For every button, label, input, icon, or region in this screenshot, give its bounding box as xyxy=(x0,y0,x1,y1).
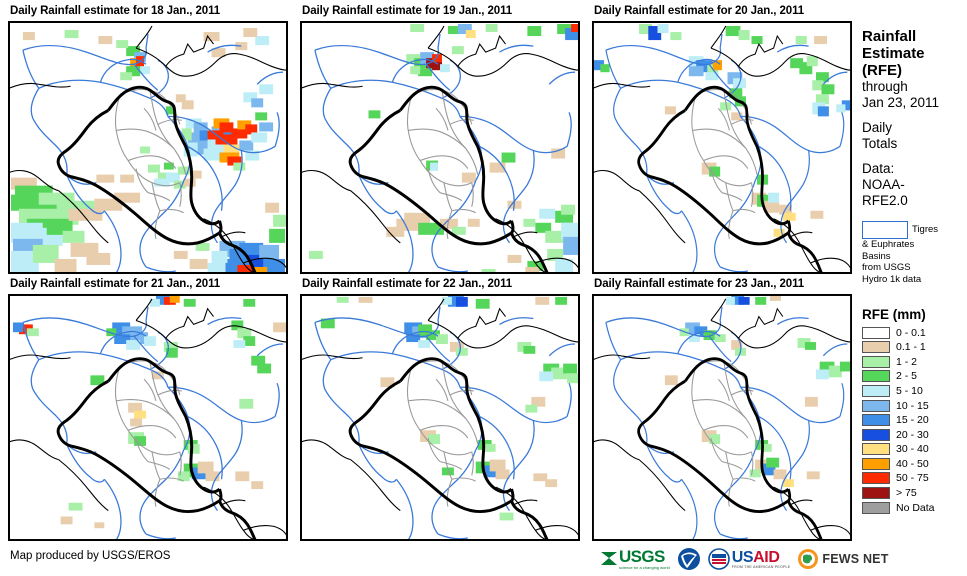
legend-label: > 75 xyxy=(890,487,917,499)
legend-label: 30 - 40 xyxy=(890,443,929,455)
panel-21jan[interactable]: Daily Rainfall estimate for 21 Jan., 201… xyxy=(8,277,288,539)
legend-row: 50 - 75 xyxy=(862,471,967,486)
basin-legend-key: Tigres & Euphrates Basins from USGS Hydr… xyxy=(862,221,967,285)
map-frame-23jan[interactable] xyxy=(592,294,852,541)
legend-label: 2 - 5 xyxy=(890,370,917,382)
basin-label-line5: Hydro 1k data xyxy=(862,274,967,286)
legend-label: 10 - 15 xyxy=(890,400,929,412)
sidebar-title-line2: Estimate xyxy=(862,45,967,62)
basin-label-line2: & Euphrates xyxy=(862,239,967,251)
legend-row: 0.1 - 1 xyxy=(862,340,967,355)
sidebar-through-date: Jan 23, 2011 xyxy=(862,95,967,111)
legend-label: 1 - 2 xyxy=(890,356,917,368)
fewsnet-logo[interactable]: FEWS NET xyxy=(797,548,888,570)
sidebar-through-label: through xyxy=(862,79,967,95)
legend-row: 15 - 20 xyxy=(862,413,967,428)
fewsnet-wordmark: FEWS NET xyxy=(822,552,888,566)
legend-swatch xyxy=(862,458,890,470)
panel-title-21jan: Daily Rainfall estimate for 21 Jan., 201… xyxy=(8,277,288,292)
legend-row: 1 - 2 xyxy=(862,354,967,369)
noaa-seal-icon xyxy=(677,547,701,571)
sidebar-totals-line1: Daily xyxy=(862,120,967,136)
usgs-mark-icon xyxy=(600,549,618,569)
sidebar-totals-line2: Totals xyxy=(862,136,967,152)
panel-19jan[interactable]: Daily Rainfall estimate for 19 Jan., 201… xyxy=(300,4,580,272)
panel-20jan[interactable]: Daily Rainfall estimate for 20 Jan., 201… xyxy=(592,4,852,272)
map-frame-20jan[interactable] xyxy=(592,21,852,274)
map-frame-19jan[interactable] xyxy=(300,21,580,274)
legend-swatch xyxy=(862,443,890,455)
rfe-legend-heading: RFE (mm) xyxy=(862,307,967,322)
map-21jan xyxy=(9,295,287,540)
panel-22jan[interactable]: Daily Rainfall estimate for 22 Jan., 201… xyxy=(300,277,580,539)
map-23jan xyxy=(593,295,851,540)
page-footer: Map produced by USGS/EROS USGS science f… xyxy=(0,540,967,576)
sidebar-title-line3: (RFE) xyxy=(862,62,967,79)
basin-label-line1: Tigres xyxy=(908,224,938,236)
map-panel-grid: Daily Rainfall estimate for 18 Jan., 201… xyxy=(0,0,856,540)
legend-label: 20 - 30 xyxy=(890,429,929,441)
rfe-legend-list: 0 - 0.10.1 - 11 - 22 - 55 - 1010 - 1515 … xyxy=(862,325,967,515)
map-22jan xyxy=(301,295,579,540)
legend-swatch xyxy=(862,502,890,514)
legend-swatch xyxy=(862,414,890,426)
legend-label: 15 - 20 xyxy=(890,414,929,426)
panel-23jan[interactable]: Daily Rainfall estimate for 23 Jan., 201… xyxy=(592,277,852,539)
basin-label-line4: from USGS xyxy=(862,262,967,274)
map-frame-22jan[interactable] xyxy=(300,294,580,541)
panel-title-18jan: Daily Rainfall estimate for 18 Jan., 201… xyxy=(8,4,288,19)
legend-swatch xyxy=(862,487,890,499)
panel-title-23jan: Daily Rainfall estimate for 23 Jan., 201… xyxy=(592,277,852,292)
noaa-logo[interactable] xyxy=(677,547,701,571)
legend-swatch xyxy=(862,356,890,368)
legend-swatch xyxy=(862,370,890,382)
legend-row: 10 - 15 xyxy=(862,398,967,413)
map-19jan xyxy=(301,22,579,273)
map-20jan xyxy=(593,22,851,273)
map-18jan xyxy=(9,22,287,273)
legend-row: 30 - 40 xyxy=(862,442,967,457)
sidebar-data-line1: Data: xyxy=(862,161,967,177)
legend-swatch xyxy=(862,341,890,353)
fewsnet-globe-icon xyxy=(797,548,819,570)
map-credit: Map produced by USGS/EROS xyxy=(10,550,170,562)
legend-label: 40 - 50 xyxy=(890,458,929,470)
usaid-tagline: FROM THE AMERICAN PEOPLE xyxy=(732,565,791,569)
legend-row: 40 - 50 xyxy=(862,457,967,472)
basin-label-line3: Basins xyxy=(862,251,967,263)
usaid-logo[interactable]: USAID FROM THE AMERICAN PEOPLE xyxy=(708,548,791,570)
legend-sidebar: Rainfall Estimate (RFE) through Jan 23, … xyxy=(862,0,967,540)
panel-18jan[interactable]: Daily Rainfall estimate for 18 Jan., 201… xyxy=(8,4,288,272)
legend-row: 20 - 30 xyxy=(862,427,967,442)
sidebar-data-line2: NOAA- xyxy=(862,177,967,193)
legend-row: 2 - 5 xyxy=(862,369,967,384)
legend-swatch xyxy=(862,327,890,339)
panel-title-20jan: Daily Rainfall estimate for 20 Jan., 201… xyxy=(592,4,852,19)
partner-logos: USGS science for a changing world xyxy=(600,544,889,574)
sidebar-totals: Daily Totals xyxy=(862,120,967,152)
usaid-wordmark: USAID xyxy=(732,550,791,565)
usgs-tagline: science for a changing world xyxy=(619,565,670,570)
legend-row: No Data xyxy=(862,500,967,515)
legend-label: 0.1 - 1 xyxy=(890,341,926,353)
legend-row: > 75 xyxy=(862,486,967,501)
map-frame-18jan[interactable] xyxy=(8,21,288,274)
panel-title-22jan: Daily Rainfall estimate for 22 Jan., 201… xyxy=(300,277,580,292)
rfe-map-page: Daily Rainfall estimate for 18 Jan., 201… xyxy=(0,0,967,576)
legend-row: 0 - 0.1 xyxy=(862,325,967,340)
usaid-seal-icon xyxy=(708,548,730,570)
legend-label: 5 - 10 xyxy=(890,385,923,397)
sidebar-title-line1: Rainfall xyxy=(862,28,967,45)
legend-label: No Data xyxy=(890,502,935,514)
legend-swatch xyxy=(862,429,890,441)
sidebar-data-line3: RFE2.0 xyxy=(862,193,967,209)
legend-swatch xyxy=(862,472,890,484)
legend-swatch xyxy=(862,400,890,412)
legend-label: 50 - 75 xyxy=(890,472,929,484)
map-frame-21jan[interactable] xyxy=(8,294,288,541)
legend-label: 0 - 0.1 xyxy=(890,327,926,339)
legend-row: 5 - 10 xyxy=(862,384,967,399)
basin-outline-swatch xyxy=(862,221,908,239)
sidebar-data-source: Data: NOAA- RFE2.0 xyxy=(862,161,967,209)
usgs-wordmark: USGS xyxy=(619,549,670,565)
legend-swatch xyxy=(862,385,890,397)
panel-title-19jan: Daily Rainfall estimate for 19 Jan., 201… xyxy=(300,4,580,19)
usgs-logo[interactable]: USGS science for a changing world xyxy=(600,549,670,570)
